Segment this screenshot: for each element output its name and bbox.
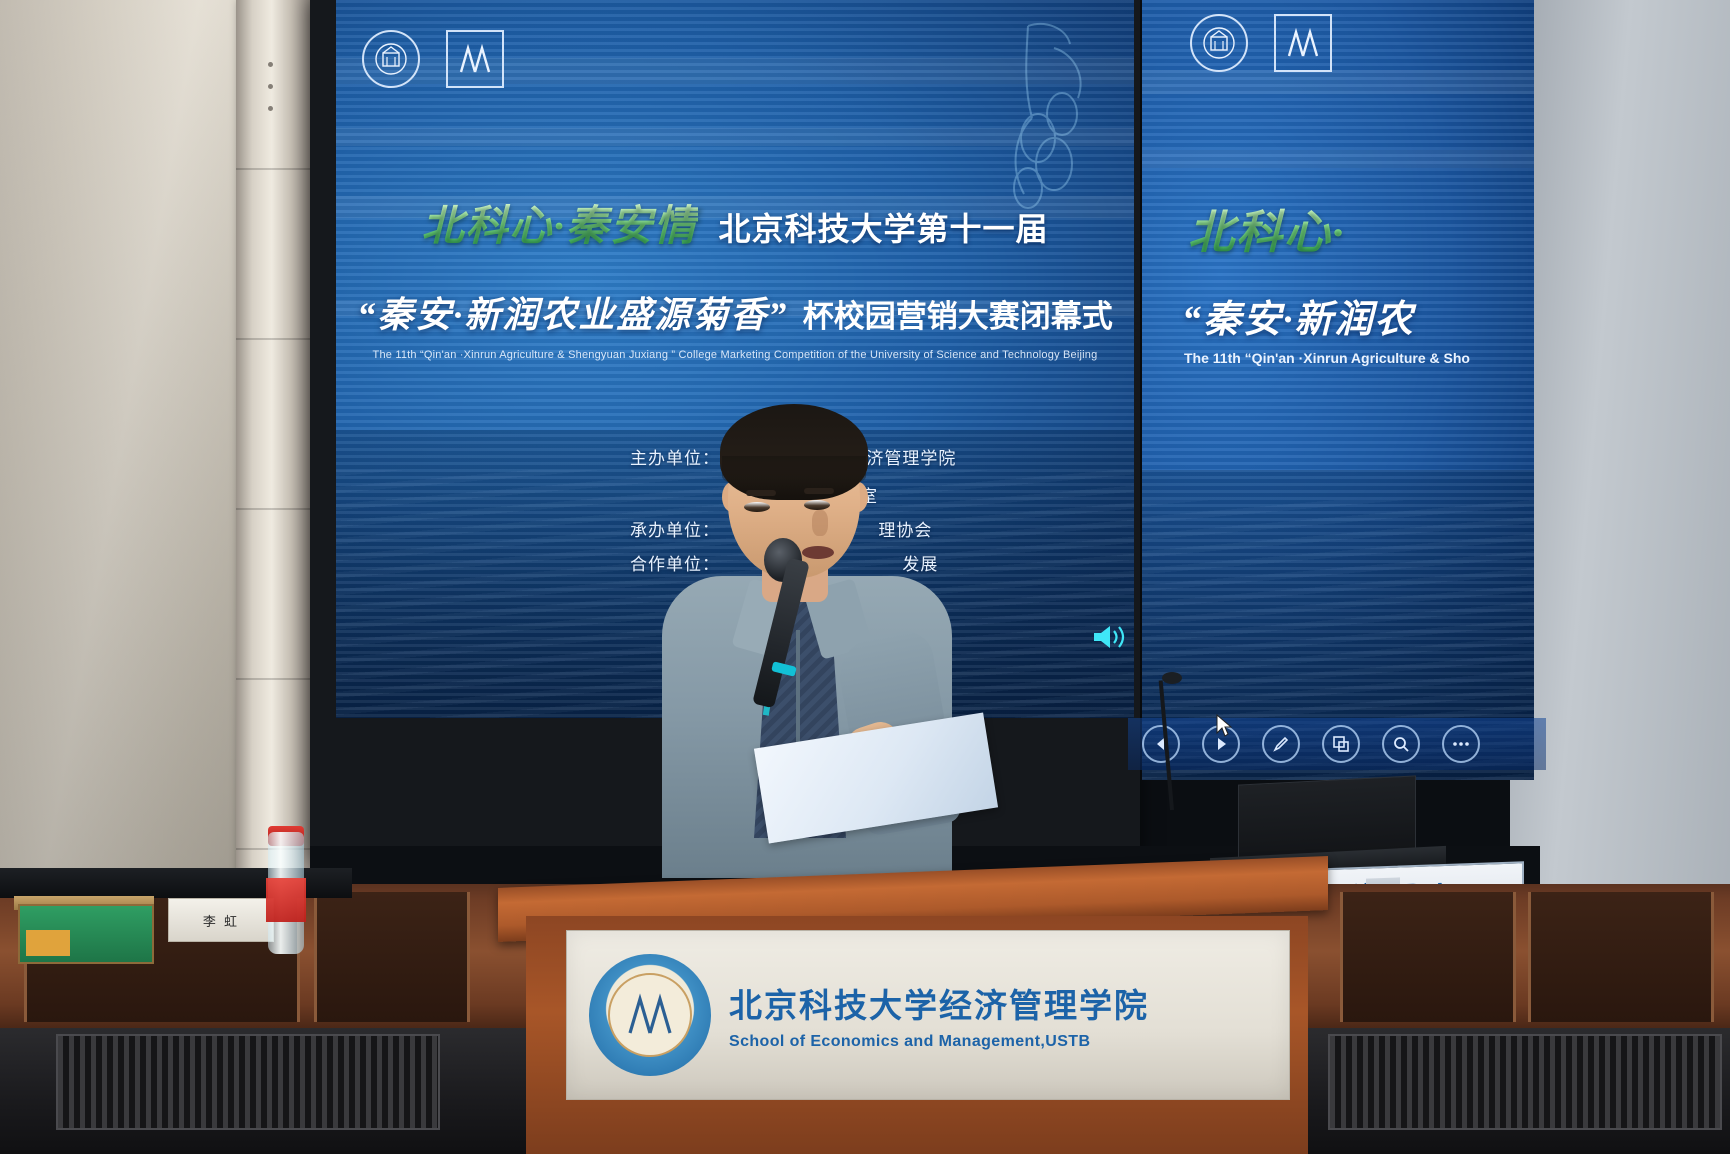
speaker-eye-right <box>804 500 830 510</box>
orange-item <box>26 930 70 956</box>
speaker-nose <box>812 510 828 536</box>
ustb-seal-logo-icon <box>362 30 420 88</box>
speaker-fringe <box>722 456 866 490</box>
podium-plaque-text: 北京科技大学经济管理学院 School of Economics and Man… <box>729 979 1149 1051</box>
slide2-brand-calligraphy-row: 北科心· <box>1188 196 1346 262</box>
projection-screen-secondary: 北科心· “秦安·新润农 The 11th “Qin'an ·Xinrun Ag… <box>1142 0 1534 780</box>
slide2-subtitle-row: “秦安·新润农 <box>1182 288 1415 343</box>
window-crop-button[interactable] <box>1322 725 1360 763</box>
wainscot-panel <box>314 892 470 1022</box>
floor-vent-grille <box>56 1034 440 1130</box>
slide-title-row: 北科心·秦安情 北京科技大学第十一届 <box>336 192 1134 253</box>
slide-english-subtitle-row: The 11th “Qin'an ·Xinrun Agriculture & S… <box>336 345 1134 363</box>
slide-subtitle-tail: 杯校园营销大赛闭幕式 <box>803 299 1113 335</box>
wall-pillar <box>236 0 310 905</box>
speaker-eye-left <box>744 502 770 512</box>
podium-plaque-cn: 北京科技大学经济管理学院 <box>729 979 1149 1027</box>
wainscot-panel <box>1528 892 1714 1022</box>
ustb-sem-emblem-icon <box>589 954 711 1076</box>
name-card-text: 李 虹 <box>203 911 239 930</box>
water-bottle-label <box>266 878 306 922</box>
podium-plaque-en: School of Economics and Management,USTB <box>729 1033 1149 1051</box>
ustb-monogram-logo-icon <box>446 30 504 88</box>
slide2-subtitle-quoted: “秦安·新润农 <box>1182 299 1415 341</box>
slide-headline: 北京科技大学第十一届 <box>718 210 1048 248</box>
podium: 北京科技大学经济管理学院 School of Economics and Man… <box>498 872 1328 1154</box>
speaker-brow-left <box>746 490 776 496</box>
slide2-english-subtitle-row: The 11th “Qin'an ·Xinrun Agriculture & S… <box>1184 350 1470 368</box>
slide-brand-calligraphy: 北科心·秦安情 <box>422 204 699 250</box>
floor-vent-grille <box>1328 1034 1722 1130</box>
slide-subtitle-quoted: “秦安·新润农业盛源菊香” <box>357 295 788 335</box>
right-wall <box>1510 0 1730 940</box>
photo-scene: 北科心·秦安情 北京科技大学第十一届 “秦安·新润农业盛源菊香” 杯校园营销大赛… <box>0 0 1730 1154</box>
screen2-scanlines <box>1142 0 1534 780</box>
ustb-monogram-logo-icon <box>1274 14 1332 72</box>
pillar-dot <box>268 62 273 67</box>
speaker-brow-right <box>804 488 834 494</box>
emblem-inner <box>608 973 692 1057</box>
slide-subtitle-row: “秦安·新润农业盛源菊香” 杯校园营销大赛闭幕式 <box>336 286 1134 338</box>
back-button[interactable] <box>1142 725 1180 763</box>
volume-speaker-icon <box>1092 622 1126 652</box>
mouse-cursor-icon <box>1216 714 1232 738</box>
slide2-brand-calligraphy: 北科心· <box>1188 207 1346 258</box>
pillar-dot <box>268 84 273 89</box>
podium-front-face: 北京科技大学经济管理学院 School of Economics and Man… <box>526 916 1308 1154</box>
pillar-dot <box>268 106 273 111</box>
slide2-english-subtitle: The 11th “Qin'an ·Xinrun Agriculture & S… <box>1184 350 1470 366</box>
pillar-seams <box>236 0 310 905</box>
ustb-seal-logo-icon <box>1190 14 1248 72</box>
media-player-toolbar[interactable] <box>1128 718 1546 770</box>
speaker-mouth <box>802 546 834 559</box>
more-options-button[interactable] <box>1442 725 1480 763</box>
podium-plaque: 北京科技大学经济管理学院 School of Economics and Man… <box>566 930 1290 1100</box>
slide2-logo-group <box>1190 14 1332 72</box>
pen-annotate-button[interactable] <box>1262 725 1300 763</box>
zoom-search-button[interactable] <box>1382 725 1420 763</box>
slide-english-subtitle: The 11th “Qin'an ·Xinrun Agriculture & S… <box>373 349 1098 361</box>
slide-logo-group <box>362 30 504 88</box>
wainscot-panel <box>1340 892 1516 1022</box>
gooseneck-mic-head <box>1162 672 1182 684</box>
name-card: 李 虹 <box>168 898 274 942</box>
